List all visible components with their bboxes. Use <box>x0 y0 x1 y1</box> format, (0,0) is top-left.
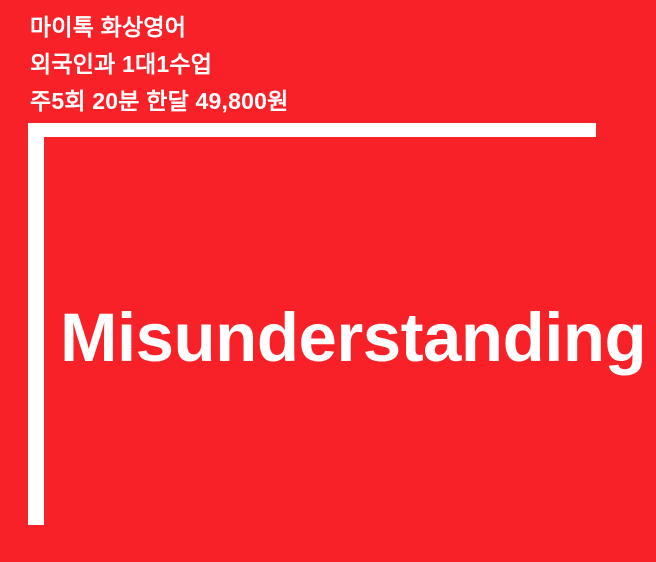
white-left-bar <box>28 123 44 525</box>
header-line-3: 주5회 20분 한달 49,800원 <box>30 83 530 120</box>
header-line-2: 외국인과 1대1수업 <box>30 46 530 83</box>
white-top-bar <box>28 123 596 137</box>
page-title: Misunderstanding <box>60 296 646 380</box>
header-line-1: 마이톡 화상영어 <box>30 9 530 46</box>
header-text-block: 마이톡 화상영어 외국인과 1대1수업 주5회 20분 한달 49,800원 <box>30 9 530 120</box>
slide-canvas: 마이톡 화상영어 외국인과 1대1수업 주5회 20분 한달 49,800원 M… <box>0 0 656 562</box>
